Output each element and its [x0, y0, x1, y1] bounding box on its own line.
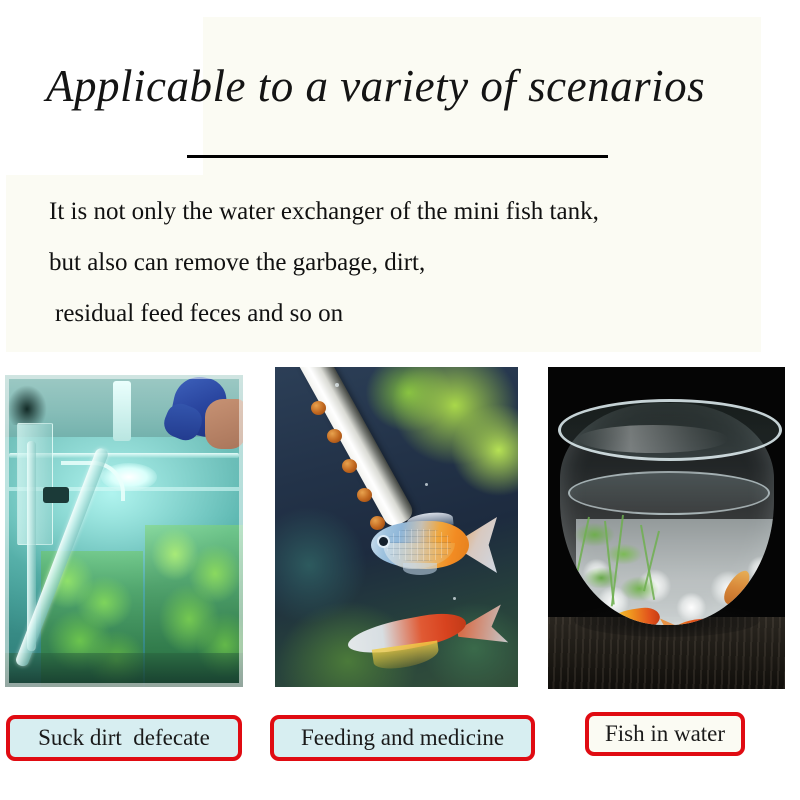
scenario-image-feeding[interactable] [275, 367, 518, 687]
aquarium-substrate [5, 653, 243, 687]
rainbowfish-anal-fin [403, 563, 437, 575]
user-hand [205, 399, 243, 449]
scenario-gallery [0, 366, 800, 691]
food-pellet [357, 488, 372, 502]
caption-suck-dirt[interactable]: Suck dirt defecate [6, 715, 242, 761]
water-speck [335, 383, 339, 387]
bowl-glass-highlight [578, 425, 728, 453]
rainbowfish-eye [379, 537, 388, 546]
aquarium-dark-plant [7, 385, 47, 425]
scenario-image-fish-in-water[interactable] [548, 367, 785, 689]
description-line-2: but also can remove the garbage, dirt, [49, 237, 789, 288]
rainbowfish-scales [387, 529, 451, 561]
caption-fish-in-water[interactable]: Fish in water [585, 712, 745, 756]
plant-strand [573, 517, 590, 588]
food-pellet [342, 459, 357, 473]
description-line-3: residual feed feces and so on [49, 288, 789, 339]
description-line-1: It is not only the water exchanger of th… [49, 186, 789, 237]
secondary-fish [347, 611, 518, 669]
scenario-image-suck-dirt[interactable] [5, 375, 243, 687]
aquarium-light-icon [113, 381, 131, 441]
bowl-water-surface [568, 471, 770, 515]
plant-strand [640, 525, 655, 600]
water-speck [425, 483, 428, 486]
food-pellet [327, 429, 342, 443]
title-divider [187, 155, 608, 158]
promo-page: Applicable to a variety of scenarios It … [0, 0, 800, 800]
caption-feeding-and-medicine[interactable]: Feeding and medicine [270, 715, 535, 761]
page-title: Applicable to a variety of scenarios [46, 58, 766, 114]
rainbowfish [363, 515, 495, 577]
food-pellet [311, 401, 326, 415]
aquatic-plant [570, 511, 682, 619]
plant-strand [611, 515, 624, 607]
water-speck [453, 597, 456, 600]
description-paragraph: It is not only the water exchanger of th… [49, 186, 789, 339]
